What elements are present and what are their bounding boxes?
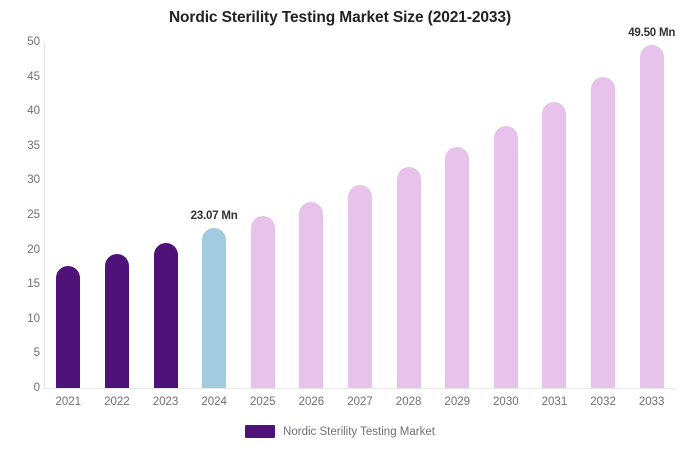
bar-value-label: 49.50 Mn xyxy=(628,27,675,39)
y-axis-tick: 20 xyxy=(6,244,40,256)
y-axis-tick: 15 xyxy=(6,278,40,290)
x-axis-tick-2033: 2033 xyxy=(627,396,676,408)
bar-2023[interactable] xyxy=(154,243,178,388)
bar-2022[interactable] xyxy=(105,254,129,388)
bar-2033[interactable] xyxy=(640,45,664,388)
bar-2029[interactable] xyxy=(445,147,469,388)
bar-slot[interactable] xyxy=(445,147,469,388)
y-axis-tick: 35 xyxy=(6,140,40,152)
legend-item[interactable]: Nordic Sterility Testing Market xyxy=(245,425,435,438)
x-axis-tick-2026: 2026 xyxy=(287,396,336,408)
bar-chart: Nordic Sterility Testing Market Size (20… xyxy=(0,0,680,450)
bar-slot[interactable]: 23.07 Mn xyxy=(202,228,226,388)
bar-2027[interactable] xyxy=(348,185,372,388)
x-axis-tick-2032: 2032 xyxy=(579,396,628,408)
bar-2028[interactable] xyxy=(397,167,421,388)
bar-2021[interactable] xyxy=(56,266,80,388)
y-axis-tick: 40 xyxy=(6,105,40,117)
bar-slot[interactable] xyxy=(542,102,566,388)
y-axis-tick: 50 xyxy=(6,36,40,48)
bar-2032[interactable] xyxy=(591,77,615,388)
x-axis-tick-2028: 2028 xyxy=(384,396,433,408)
y-axis-labels: 05101520253035404550 xyxy=(0,0,40,450)
bar-slot[interactable] xyxy=(105,254,129,388)
bar-slot[interactable] xyxy=(154,243,178,388)
y-axis-tick: 10 xyxy=(6,313,40,325)
x-axis-tick-2030: 2030 xyxy=(482,396,531,408)
y-axis-tick: 25 xyxy=(6,209,40,221)
bar-slot[interactable] xyxy=(56,266,80,388)
x-axis-tick-2021: 2021 xyxy=(44,396,93,408)
bar-slot[interactable] xyxy=(348,185,372,388)
x-axis-tick-2031: 2031 xyxy=(530,396,579,408)
bar-value-label: 23.07 Mn xyxy=(191,210,238,222)
x-axis-tick-2025: 2025 xyxy=(238,396,287,408)
bar-2024[interactable] xyxy=(202,228,226,388)
y-axis-tick: 30 xyxy=(6,174,40,186)
bar-slot[interactable] xyxy=(397,167,421,388)
bar-slot[interactable] xyxy=(591,77,615,388)
y-axis-tick: 45 xyxy=(6,71,40,83)
x-axis-tick-2022: 2022 xyxy=(93,396,142,408)
y-axis-tick: 5 xyxy=(6,347,40,359)
x-axis-tick-2023: 2023 xyxy=(141,396,190,408)
bar-slot[interactable] xyxy=(494,126,518,388)
bar-2026[interactable] xyxy=(299,202,323,388)
chart-legend: Nordic Sterility Testing Market xyxy=(0,425,680,438)
bars-layer: 23.07 Mn49.50 Mn xyxy=(44,0,676,450)
x-axis-labels: 2021202220232024202520262027202820292030… xyxy=(44,396,676,416)
bar-slot[interactable] xyxy=(251,216,275,388)
x-axis-tick-2024: 2024 xyxy=(190,396,239,408)
y-axis-tick: 0 xyxy=(6,382,40,394)
bar-2030[interactable] xyxy=(494,126,518,388)
x-axis-tick-2029: 2029 xyxy=(433,396,482,408)
bar-slot[interactable]: 49.50 Mn xyxy=(640,45,664,388)
legend-swatch xyxy=(245,425,275,438)
bar-slot[interactable] xyxy=(299,202,323,388)
bar-2025[interactable] xyxy=(251,216,275,388)
legend-label: Nordic Sterility Testing Market xyxy=(283,426,435,438)
bar-2031[interactable] xyxy=(542,102,566,388)
x-axis-tick-2027: 2027 xyxy=(336,396,385,408)
